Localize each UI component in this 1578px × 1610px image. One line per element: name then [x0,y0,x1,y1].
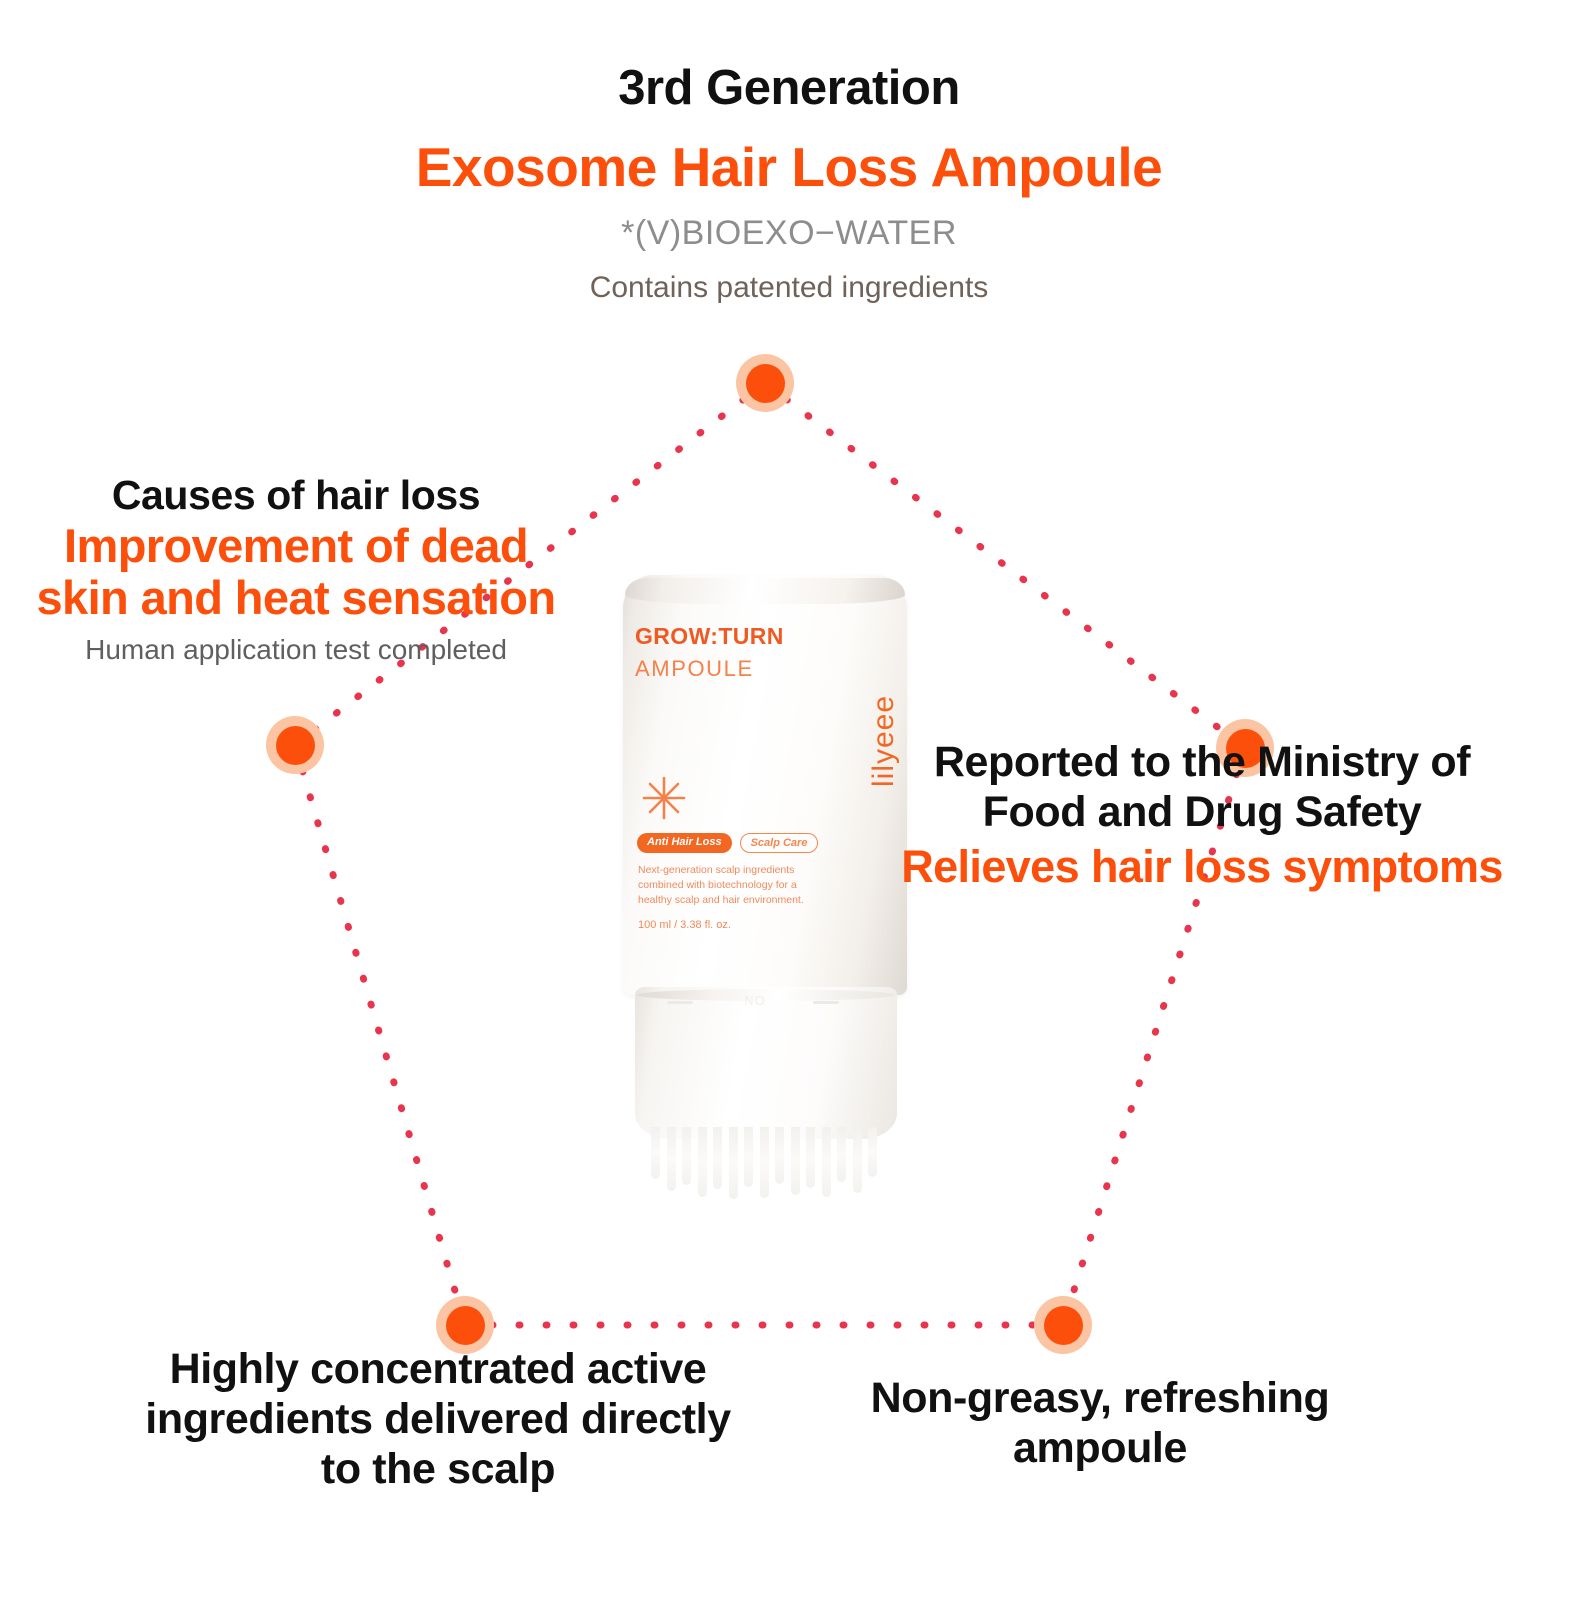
header-line-ingredient-code: *(V)BIOEXO−WATER [0,215,1578,252]
tag-anti-hair-loss: Anti Hair Loss [637,833,732,853]
callout-bottom-left: Highly concentrated active ingredients d… [68,1345,808,1495]
sparkle-icon [641,775,687,821]
callout-left-subtitle: Human application test completed [0,633,592,667]
tag-scalp-care: Scalp Care [740,833,819,853]
callout-bottom-left-title-2: ingredients delivered directly [68,1395,808,1445]
applicator-cap [635,987,897,1139]
cap-tick-right [813,1001,839,1004]
callout-right-title-2: Food and Drug Safety [826,788,1578,838]
callout-bottom-left-title-3: to the scalp [68,1445,808,1495]
comb-tooth [744,1127,753,1187]
callout-right-highlight: Relieves hair loss symptoms [826,842,1578,892]
header-line-generation: 3rd Generation [0,62,1578,116]
callout-left-highlight-2: skin and heat sensation [0,572,592,625]
cap-tick-left [667,1001,693,1004]
callout-bottom-right-title-1: Non-greasy, refreshing [800,1374,1400,1424]
product-volume: 100 ml / 3.38 fl. oz. [638,919,731,931]
connector-left-to-bottom-left [295,745,465,1325]
node-left[interactable] [266,716,324,774]
comb-tooth [837,1127,846,1182]
comb-tooth [698,1127,707,1197]
node-bottom-right[interactable] [1034,1296,1092,1354]
product-claim-tags: Anti Hair Loss Scalp Care [637,833,818,853]
comb-tooth [806,1127,815,1188]
comb-tooth [822,1127,831,1197]
comb-tooth [853,1127,862,1193]
comb-tooth [868,1127,877,1177]
callout-left-title: Causes of hair loss [0,472,592,520]
callout-right-title-1: Reported to the Ministry of [826,738,1578,788]
comb-tooth [775,1127,784,1184]
product-type-label: AMPOULE [635,656,835,682]
product-label-brand-group: GROW:TURN AMPOULE [635,623,835,682]
comb-tooth [791,1127,800,1195]
callout-left: Causes of hair loss Improvement of dead … [0,472,592,666]
comb-tooth [713,1127,722,1189]
product-brand-name: GROW:TURN [635,623,835,650]
comb-teeth [651,1127,877,1199]
comb-tooth [760,1127,769,1198]
comb-tooth [729,1127,738,1199]
callout-left-highlight-1: Improvement of dead [0,520,592,573]
header-line-patent-note: Contains patented ingredients [0,271,1578,304]
node-top[interactable] [736,354,794,412]
header-line-product-title: Exosome Hair Loss Ampoule [0,137,1578,198]
infographic-canvas: 3rd Generation Exosome Hair Loss Ampoule… [0,0,1578,1610]
comb-tooth [667,1127,676,1191]
callout-right: Reported to the Ministry of Food and Dru… [826,738,1578,892]
callout-bottom-left-title-1: Highly concentrated active [68,1345,808,1395]
callout-bottom-right: Non-greasy, refreshing ampoule [800,1374,1400,1474]
callout-bottom-right-title-2: ampoule [800,1424,1400,1474]
cap-embossed-mark: NO [727,993,783,1009]
product-description: Next-generation scalp ingredients combin… [638,863,816,909]
header-block: 3rd Generation Exosome Hair Loss Ampoule… [0,0,1578,304]
comb-tooth [651,1127,660,1179]
tube-crimp [625,578,905,604]
comb-tooth [682,1127,691,1185]
